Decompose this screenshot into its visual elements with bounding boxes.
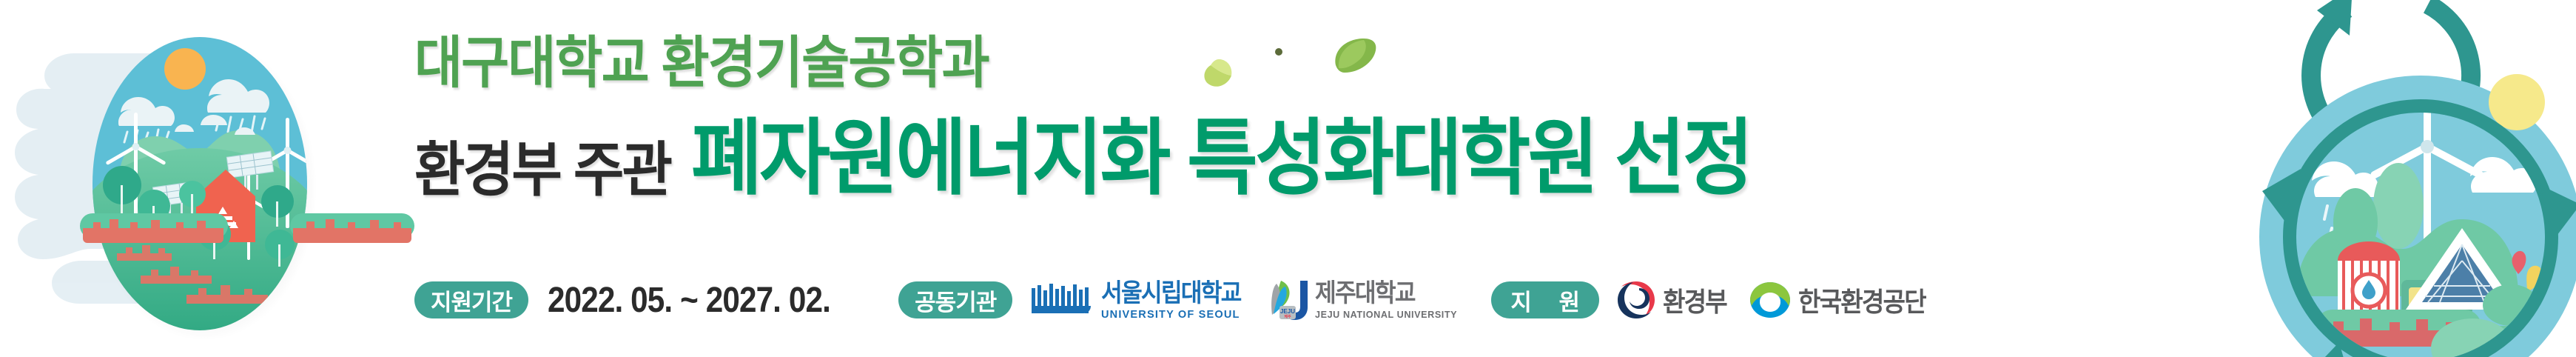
jnu-name-en: JEJU NATIONAL UNIVERSITY: [1315, 310, 1457, 319]
keco-ring-icon: [1749, 281, 1791, 318]
promo-banner: 대구대학교 환경기술공학과 환경부 주관폐자원에너지화 특성화대학원 선정 지원…: [0, 0, 2576, 357]
svg-text:JEJU: JEJU: [1280, 308, 1295, 315]
uos-name-kr: 서울시립대학교: [1101, 281, 1241, 306]
left-eco-illustration: [0, 0, 414, 357]
hill: [2373, 163, 2424, 249]
banner-footer-row: 지원기간 2022. 05. ~ 2027. 02. 공동기관: [414, 274, 1937, 326]
pill-shelf: [290, 213, 414, 243]
cloud-leaf-decoration: [1162, 7, 1310, 104]
sun-icon: [2489, 74, 2545, 130]
jnu-name-kr: 제주대학교: [1315, 281, 1450, 306]
subtitle-line: 대구대학교 환경기술공학과: [414, 36, 989, 92]
pill-shelf: [80, 213, 228, 243]
jnu-mark-icon: JEJU 제주: [1271, 279, 1309, 321]
logo-ministry-of-environment: 환경부: [1617, 281, 1732, 319]
logo-korea-environment-corporation: 한국환경공단: [1749, 281, 1937, 319]
headline-prefix: 환경부 주관: [414, 137, 670, 203]
moe-name-kr: 환경부: [1663, 281, 1726, 319]
partners-badge: 공동기관: [898, 281, 1012, 318]
uos-mark-icon: [1030, 284, 1094, 316]
uos-name-en: UNIVERSITY OF SEOUL: [1101, 309, 1248, 320]
sun-icon: [164, 48, 206, 90]
banner-text-block: 대구대학교 환경기술공학과 환경부 주관폐자원에너지화 특성화대학원 선정 지원…: [414, 0, 2176, 357]
keco-name-kr: 한국환경공단: [1798, 281, 1926, 319]
svg-text:제주: 제주: [1285, 314, 1292, 319]
factory-building: [2338, 241, 2400, 317]
taegeuk-icon: [1617, 281, 1655, 319]
logo-university-of-seoul: 서울시립대학교 UNIVERSITY OF SEOUL: [1030, 281, 1253, 320]
logo-jeju-national-university: JEJU 제주 제주대학교 JEJU NATIONAL UNIVERSITY: [1271, 279, 1462, 321]
headline-line: 환경부 주관폐자원에너지화 특성화대학원 선정: [414, 117, 1751, 200]
period-value: 2022. 05. ~ 2027. 02.: [548, 280, 830, 321]
headline-main: 폐자원에너지화 특성화대학원 선정: [691, 112, 1751, 204]
leaf-decoration: [1328, 36, 1380, 74]
period-badge: 지원기간: [414, 281, 528, 318]
dot-decoration: [1275, 48, 1282, 56]
support-badge: 지 원: [1491, 281, 1599, 318]
